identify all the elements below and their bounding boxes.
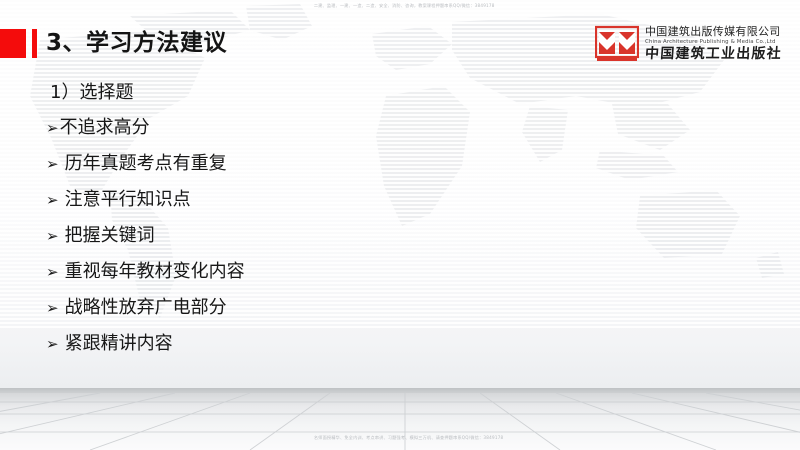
list-item-label: 紧跟精讲内容: [65, 326, 173, 361]
page-title: 3、学习方法建议: [46, 28, 227, 58]
list-lead-label: 1）选择题: [50, 76, 133, 110]
title-accent-bar: [32, 29, 37, 58]
list-item: ➢ 历年真题考点有重复: [46, 146, 566, 182]
list-item-label: 历年真题考点有重复: [65, 146, 227, 181]
bullet-arrow-icon: ➢: [46, 327, 59, 362]
list-item-label: 不追求高分: [60, 110, 150, 145]
bullet-arrow-icon: ➢: [46, 291, 59, 326]
list-item: ➢ 注意平行知识点: [46, 182, 566, 218]
title-accent-block: [0, 29, 26, 58]
list-item: ➢ 紧跟精讲内容: [46, 326, 566, 362]
bullet-arrow-icon: ➢: [46, 147, 59, 182]
list-item: ➢ 不追求高分: [46, 110, 566, 146]
publisher-imprint-cn: 中国建筑工业出版社: [644, 46, 782, 63]
bullet-arrow-icon: ➢: [46, 183, 59, 218]
open-book-logo-icon: [595, 24, 639, 64]
list-item-label: 重视每年教材变化内容: [65, 254, 245, 289]
list-item: ➢ 战略性放弃广电部分: [46, 290, 566, 326]
list-item: ➢ 把握关键词: [46, 218, 566, 254]
content-list: 1）选择题 ➢ 不追求高分 ➢ 历年真题考点有重复 ➢ 注意平行知识点 ➢ 把握…: [46, 76, 566, 362]
list-item-label: 把握关键词: [65, 218, 155, 253]
watermark-top: 二建、监理、一建、一造、二造、安全、消防、咨询，教案课程押题串系QQ/微信：38…: [314, 3, 495, 9]
publisher-logo: 中国建筑出版传媒有限公司 China Architecture Publishi…: [595, 20, 795, 68]
list-item-label: 注意平行知识点: [65, 182, 191, 217]
bullet-arrow-icon: ➢: [46, 111, 59, 146]
publisher-name-cn: 中国建筑出版传媒有限公司: [645, 25, 782, 38]
list-item-label: 战略性放弃广电部分: [65, 290, 227, 325]
bullet-arrow-icon: ➢: [46, 255, 59, 290]
list-item: ➢ 重视每年教材变化内容: [46, 254, 566, 290]
watermark-bottom: 名师面授精华、免全内训、考点串讲、习题强考、模拟三万机、请查押题串系QQ/微信：…: [314, 435, 503, 441]
list-lead-item: 1）选择题: [46, 76, 566, 110]
bullet-arrow-icon: ➢: [46, 219, 59, 254]
publisher-logo-text: 中国建筑出版传媒有限公司 China Architecture Publishi…: [645, 25, 782, 63]
publisher-name-en: China Architecture Publishing & Media Co…: [645, 38, 782, 46]
presentation-slide: 3、学习方法建议 中国建筑出版传媒有限公司 China Architecture…: [0, 0, 800, 450]
